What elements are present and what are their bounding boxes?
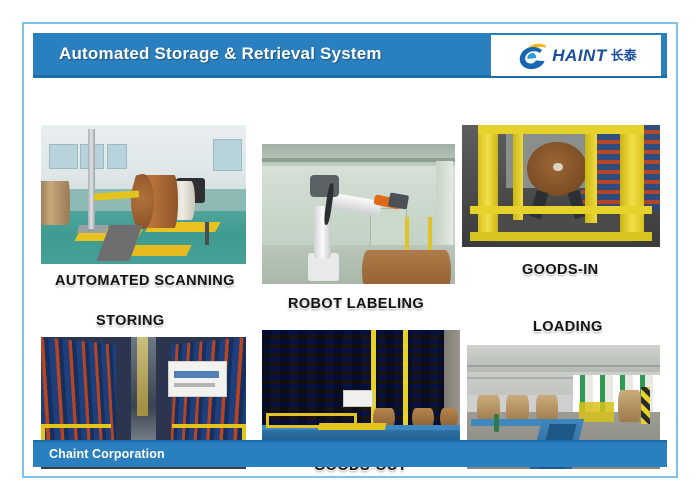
caption-storing: STORING — [96, 313, 165, 329]
photo-gallery: AUTOMATED SCANNING — [33, 81, 667, 453]
photo-robot-labeling — [262, 144, 455, 284]
caption-robot-labeling: ROBOT LABELING — [288, 296, 424, 312]
slide-header: Automated Storage & Retrieval System HAI… — [33, 33, 667, 78]
company-name: Chaint Corporation — [49, 447, 165, 461]
photo-goods-in — [462, 125, 660, 247]
photo-goods-out — [262, 330, 460, 455]
logo-wordmark: HAINT — [552, 47, 606, 64]
logo-chinese-name: 长泰 — [611, 49, 637, 62]
slide-footer: Chaint Corporation — [33, 440, 667, 467]
haint-c-logo-icon — [515, 41, 549, 71]
caption-goods-in: GOODS-IN — [522, 262, 599, 278]
page-title: Automated Storage & Retrieval System — [59, 44, 382, 64]
photo-automated-scanning — [41, 125, 246, 264]
caption-loading: LOADING — [533, 319, 603, 335]
brand-logo: HAINT 长泰 — [491, 35, 661, 76]
slide-page: Automated Storage & Retrieval System HAI… — [27, 27, 673, 473]
caption-automated-scanning: AUTOMATED SCANNING — [55, 273, 235, 289]
slide-frame: Automated Storage & Retrieval System HAI… — [22, 22, 678, 478]
